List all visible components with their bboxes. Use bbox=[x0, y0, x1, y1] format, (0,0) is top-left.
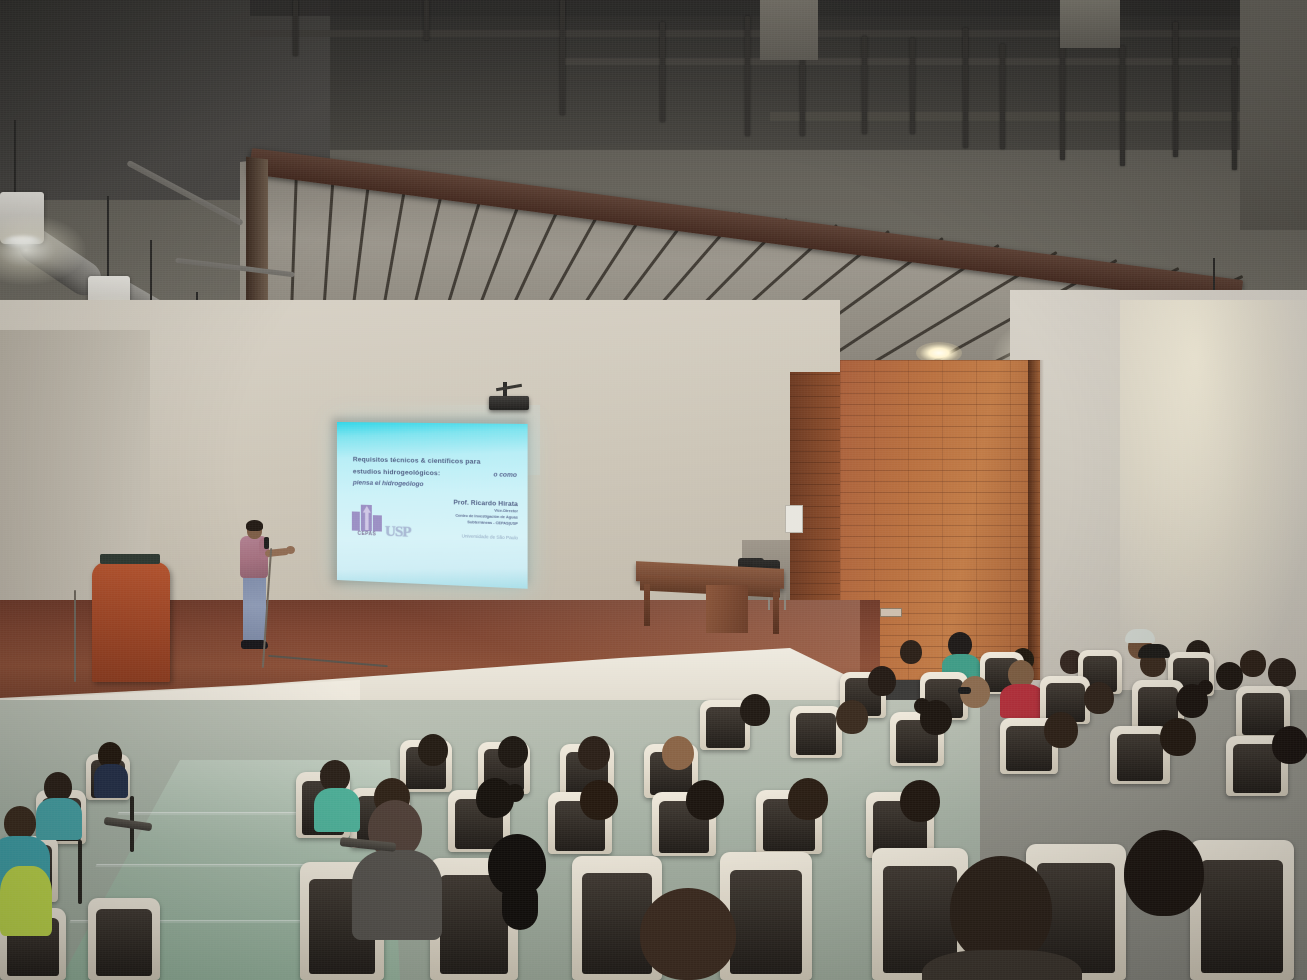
wooden-podium bbox=[92, 562, 170, 682]
seat[interactable] bbox=[790, 706, 842, 758]
head bbox=[1268, 658, 1296, 687]
seat-cushion bbox=[730, 870, 802, 974]
ceiling-rod bbox=[963, 28, 968, 148]
ponytail bbox=[502, 882, 538, 930]
glasses-icon bbox=[958, 687, 971, 694]
table-pedestal bbox=[706, 585, 748, 633]
ceiling-rod bbox=[1000, 44, 1005, 149]
seat-cushion bbox=[1242, 693, 1284, 735]
seat-post bbox=[78, 840, 82, 904]
head bbox=[1044, 712, 1078, 748]
head bbox=[1216, 662, 1243, 690]
presenter-hand bbox=[286, 546, 295, 554]
ceiling-rod bbox=[1173, 22, 1178, 157]
handheld-microphone bbox=[264, 537, 269, 549]
ceiling-rod bbox=[1120, 46, 1125, 166]
head bbox=[900, 780, 940, 822]
seat[interactable] bbox=[88, 898, 160, 980]
head bbox=[498, 736, 528, 768]
hair-bun bbox=[1198, 680, 1213, 695]
podium-cable bbox=[74, 590, 76, 682]
head bbox=[578, 736, 610, 770]
seat-cushion bbox=[706, 707, 745, 748]
torso bbox=[36, 798, 82, 840]
head bbox=[900, 640, 922, 664]
hair-bun bbox=[506, 784, 524, 802]
podium-top-surface bbox=[100, 554, 160, 564]
slide-title-accent: o como bbox=[493, 471, 516, 479]
presenter-legs bbox=[243, 574, 266, 644]
head bbox=[1160, 718, 1196, 756]
torso bbox=[352, 850, 442, 940]
upper-wall-panel bbox=[1060, 0, 1120, 48]
torso bbox=[922, 950, 1082, 980]
slide-author-block: Prof. Ricardo Hirata Vice-Director Centr… bbox=[409, 498, 518, 541]
ceiling-rod bbox=[862, 36, 867, 134]
wall-sign bbox=[785, 505, 803, 533]
pendant-light bbox=[0, 192, 44, 244]
torso bbox=[0, 866, 52, 936]
head bbox=[836, 700, 868, 734]
right-wall-light-pool bbox=[1120, 300, 1307, 680]
torso bbox=[1000, 684, 1044, 718]
head bbox=[950, 856, 1052, 964]
presenter-hair bbox=[246, 520, 263, 531]
head bbox=[788, 778, 828, 820]
head bbox=[740, 694, 770, 726]
ceiling-beam bbox=[560, 58, 1307, 65]
slide-title-line3: piensa el hidrogeólogo bbox=[353, 477, 517, 493]
cepas-bar bbox=[373, 515, 382, 531]
table-leg bbox=[644, 584, 650, 626]
head bbox=[1240, 650, 1266, 677]
head bbox=[4, 806, 36, 840]
ceiling-rod bbox=[424, 0, 429, 40]
head bbox=[1124, 830, 1204, 916]
chair-leg bbox=[784, 582, 786, 610]
ceiling-rod bbox=[660, 22, 665, 122]
torso bbox=[314, 788, 360, 832]
seat-cushion bbox=[1201, 860, 1282, 973]
ceiling-beam bbox=[770, 112, 1307, 121]
auditorium-photo: Requisitos técnicos & científicos para e… bbox=[0, 0, 1307, 980]
cap-icon bbox=[1125, 629, 1155, 643]
cepas-logo: CEPAS bbox=[352, 504, 382, 539]
table-leg bbox=[773, 592, 779, 634]
head bbox=[686, 780, 724, 820]
seat-cushion bbox=[796, 713, 837, 755]
cepas-logo-text: CEPAS bbox=[352, 531, 382, 538]
head bbox=[1084, 682, 1114, 714]
cepas-bar bbox=[352, 511, 360, 530]
ceiling-rod bbox=[560, 0, 565, 115]
ceiling-rod bbox=[745, 16, 750, 136]
brick-column-shadow bbox=[1028, 360, 1044, 680]
slide-university: Universidade de São Paulo bbox=[409, 532, 518, 541]
ceiling-rod bbox=[1060, 30, 1065, 160]
seat[interactable] bbox=[1190, 840, 1294, 980]
head bbox=[418, 734, 448, 766]
head bbox=[580, 780, 618, 820]
seat[interactable] bbox=[720, 852, 812, 980]
cap-icon bbox=[1138, 644, 1170, 658]
torso bbox=[94, 764, 128, 798]
slide-content: Requisitos técnicos & científicos para e… bbox=[337, 422, 528, 589]
seat-cushion bbox=[96, 909, 152, 975]
head bbox=[1272, 726, 1307, 764]
head bbox=[662, 736, 694, 770]
ceiling-rod bbox=[293, 0, 298, 56]
wall-outlet bbox=[880, 608, 902, 617]
upper-wall-panel bbox=[760, 0, 818, 60]
head bbox=[640, 888, 736, 980]
ceiling-rod bbox=[910, 38, 915, 134]
seat-cushion bbox=[1117, 734, 1164, 781]
usp-logo: USP bbox=[385, 524, 420, 546]
pendant-wire bbox=[107, 196, 109, 282]
head bbox=[868, 666, 896, 696]
projected-slide: Requisitos técnicos & científicos para e… bbox=[337, 422, 528, 589]
ceiling-projector bbox=[489, 396, 529, 410]
hair-bun bbox=[914, 698, 930, 714]
